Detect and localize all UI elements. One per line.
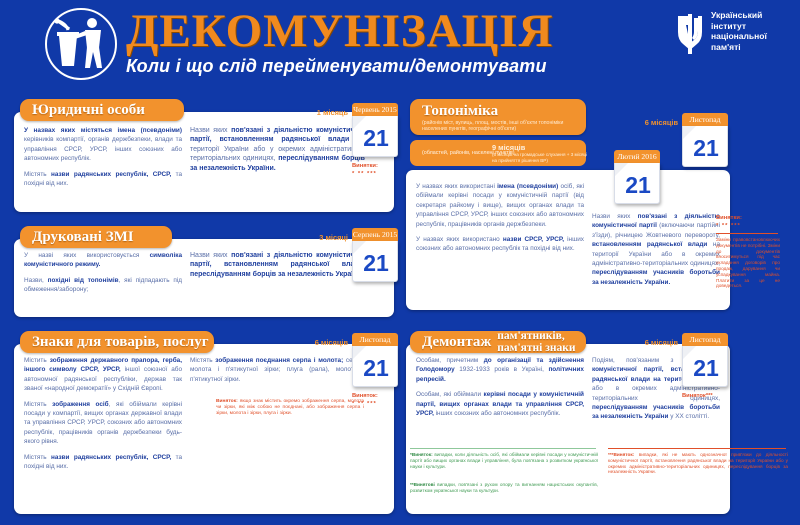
- pill-legal-title: Юридичні особи: [20, 102, 145, 118]
- demolition-calendar-month: Листопад 2015: [682, 333, 728, 346]
- toponymy-deadline-secondary: 9 місяців (6 місяців на громадське слуха…: [492, 143, 588, 163]
- footnote-1-text: випадки, коли діяльність осіб, які обійм…: [410, 452, 598, 469]
- legal-exception: Винятки: * ** ***: [352, 163, 398, 177]
- legal-exception-label: Винятки:: [352, 163, 378, 169]
- decommunization-logo-icon: [45, 8, 117, 80]
- demolition-calendar: Листопад 2015 21: [682, 333, 728, 387]
- pill-media-title: Друковані ЗМІ: [20, 229, 134, 245]
- toponymy-exception-stars: * ** ***: [716, 223, 776, 229]
- institute-line-3: національної: [711, 31, 767, 42]
- footnote-separator-right: [608, 448, 786, 449]
- trademarks-inner-exception-text: якщо знак містить окремо зображення серп…: [216, 399, 364, 416]
- pill-demolition-title: Демонтаж: [410, 334, 491, 350]
- page-title: ДЕКОМУНІЗАЦІЯ: [126, 6, 553, 56]
- legal-deadline: 1 місяць: [238, 108, 348, 117]
- legal-calendar-day: 21: [353, 125, 399, 152]
- media-deadline: 3 місяці: [238, 233, 348, 242]
- pill-printed-media[interactable]: Друковані ЗМІ: [20, 226, 172, 248]
- trademarks-inner-exception: Виняток: якщо знак містить окремо зображ…: [216, 399, 364, 417]
- institute-line-1: Український: [711, 10, 767, 21]
- toponymy-deadline-secondary-note: (6 місяців на громадське слухання + 3 мі…: [492, 152, 588, 163]
- trademarks-calendar-day: 21: [353, 355, 399, 382]
- toponymy-left-p1: У назвах яких використані імена (псевдон…: [416, 182, 584, 229]
- demolition-exception: Виняток***: [682, 393, 752, 399]
- toponymy-calendar-secondary-body: 21: [614, 163, 660, 204]
- legal-right-p1: Назви яких пов'язані з діяльністю комуні…: [190, 126, 365, 173]
- footnote-separator-left: [410, 448, 596, 449]
- footnote-1: *Виняток: випадки, коли діяльність осіб,…: [410, 452, 598, 469]
- pill-demolition[interactable]: Демонтаж пам'ятників, пам'ятні знаки: [410, 331, 586, 353]
- footnote-2-text: випадки, пов'язані з рухом опору та вигн…: [410, 482, 598, 493]
- section-trademarks: Містить зображення державного прапора, г…: [14, 344, 394, 514]
- toponymy-exception: Винятки: * ** ***: [716, 215, 776, 229]
- toponymy-calendar-secondary-month: Лютий 2016: [614, 150, 660, 163]
- toponymy-calendar-primary-month: Листопад 2015: [682, 113, 728, 126]
- toponymy-note: Заміни правовстановлюючих документів не …: [716, 237, 780, 289]
- demolition-left-p1: Особам, причетним до організації та здій…: [416, 356, 584, 384]
- footnote-2-label: **Винятові: [410, 482, 435, 487]
- toponymy-deadline-primary: 6 місяців: [560, 118, 678, 127]
- trademarks-right-column: Містять зображення поєднання серпа і мол…: [190, 356, 365, 390]
- trademarks-calendar-month: Листопад 2015: [352, 333, 398, 346]
- infographic-page: ДЕКОМУНІЗАЦІЯ Коли і що слід перейменува…: [0, 0, 800, 525]
- toponymy-left-p2: У назвах яких використано назви СРСР, УР…: [416, 235, 584, 254]
- trademarks-inner-exception-label: Виняток:: [216, 399, 238, 404]
- pill-trademarks-title: Знаки для товарів, послуг: [20, 334, 209, 350]
- toponymy-exception-label: Винятки:: [716, 215, 742, 221]
- legal-left-column: У назвах яких містяться імена (псевдонім…: [24, 126, 182, 194]
- demolition-calendar-body: 21: [682, 346, 728, 387]
- demolition-deadline: 6 місяців: [600, 338, 678, 347]
- media-right-column: Назви яких пов'язані з діяльністю комуні…: [190, 251, 365, 285]
- media-left-p1: У назві яких використовується символіка …: [24, 251, 182, 270]
- section-toponymy: У назвах яких використані імена (псевдон…: [406, 170, 730, 310]
- toponymy-note-separator: [716, 233, 778, 234]
- trademarks-left-p2: Містять зображення осіб, які обіймали ке…: [24, 400, 182, 447]
- toponymy-calendar-primary-day: 21: [683, 135, 729, 162]
- trademarks-calendar: Листопад 2015 21: [352, 333, 398, 387]
- toponymy-deadline-secondary-value: 9 місяців: [492, 143, 525, 152]
- trademarks-exception-stars: * ** ***: [352, 401, 398, 407]
- toponymy-calendar-primary-body: 21: [682, 126, 728, 167]
- page-subtitle: Коли і що слід перейменувати/демонтувати: [126, 56, 547, 77]
- trademarks-calendar-body: 21: [352, 346, 398, 387]
- pill-demolition-subtitle-line1: пам'ятників,: [497, 330, 575, 342]
- media-calendar: Серпень 2015 21: [352, 228, 398, 282]
- legal-calendar-body: 21: [352, 116, 398, 157]
- toponymy-right-p1: Назви яких пов'язані з діяльністю комуні…: [592, 212, 720, 287]
- trademarks-exception: Виняток: * ** ***: [352, 393, 398, 407]
- header: ДЕКОМУНІЗАЦІЯ Коли і що слід перейменува…: [0, 0, 800, 92]
- toponymy-calendar-primary: Листопад 2015 21: [682, 113, 728, 167]
- media-calendar-body: 21: [352, 241, 398, 282]
- legal-left-p2: Містять назви радянських республік, СРСР…: [24, 170, 182, 189]
- legal-exception-stars: * ** ***: [352, 171, 398, 177]
- section-legal-entities: У назвах яких містяться імена (псевдонім…: [14, 112, 394, 212]
- legal-calendar: Червень 2015 21: [352, 103, 398, 157]
- pill-toponymy-title: Топоніміка: [410, 103, 498, 119]
- legal-right-column: Назви яких пов'язані з діяльністю комуні…: [190, 126, 365, 179]
- pill-demolition-subtitle-line2: пам'ятні знаки: [497, 342, 575, 354]
- media-left-column: У назві яких використовується символіка …: [24, 251, 182, 301]
- media-right-p1: Назви яких пов'язані з діяльністю комуні…: [190, 251, 365, 279]
- media-calendar-month: Серпень 2015: [352, 228, 398, 241]
- legal-left-p1: У назвах яких містяться імена (псевдонім…: [24, 126, 182, 164]
- legal-calendar-month: Червень 2015: [352, 103, 398, 116]
- section-printed-media: У назві яких використовується символіка …: [14, 239, 394, 317]
- media-calendar-day: 21: [353, 250, 399, 277]
- pill-toponymy[interactable]: Топоніміка (районів міст, вулиць, площ, …: [410, 99, 586, 135]
- demolition-left-column: Особам, причетним до організації та здій…: [416, 356, 584, 424]
- institute-line-2: інститут: [711, 21, 767, 32]
- trademarks-left-p3: Містять назви радянських республік, СРСР…: [24, 453, 182, 472]
- footnote-2: **Винятові випадки, пов'язані з рухом оп…: [410, 482, 598, 494]
- institute-logo: Український інститут національної пам'ят…: [675, 10, 795, 60]
- toponymy-right-column: Назви яких пов'язані з діяльністю комуні…: [592, 212, 720, 293]
- toponymy-calendar-secondary: Лютий 2016 21: [614, 150, 660, 204]
- pill-trademarks[interactable]: Знаки для товарів, послуг: [20, 331, 214, 353]
- tryzub-icon: [675, 12, 705, 58]
- demolition-left-p2: Особам, які обіймали керівні посади у ко…: [416, 390, 584, 418]
- toponymy-calendar-secondary-day: 21: [615, 172, 661, 199]
- trademarks-deadline: 6 місяців: [236, 338, 348, 347]
- footnote-1-label: *Виняток:: [410, 452, 433, 457]
- media-left-p2: Назви, похідні від топонімів, які підпад…: [24, 276, 182, 295]
- demolition-calendar-day: 21: [683, 355, 729, 382]
- footnote-3-label: ***Виняток:: [608, 452, 634, 457]
- pill-legal-entities[interactable]: Юридичні особи: [20, 99, 184, 121]
- trademarks-right-p1: Містять зображення поєднання серпа і мол…: [190, 356, 365, 384]
- footnote-3-text: випадки, які не мають однозначної прив'я…: [608, 452, 788, 474]
- trademarks-exception-label: Виняток:: [352, 393, 378, 399]
- footnote-3: ***Виняток: випадки, які не мають однозн…: [608, 452, 788, 475]
- trademarks-left-column: Містить зображення державного прапора, г…: [24, 356, 182, 477]
- institute-name: Український інститут національної пам'ят…: [711, 10, 767, 52]
- trademarks-left-p1: Містить зображення державного прапора, г…: [24, 356, 182, 394]
- institute-line-4: пам'яті: [711, 42, 767, 53]
- pill-demolition-subtitle: пам'ятників, пам'ятні знаки: [491, 330, 575, 354]
- toponymy-left-column: У назвах яких використані імена (псевдон…: [416, 182, 584, 260]
